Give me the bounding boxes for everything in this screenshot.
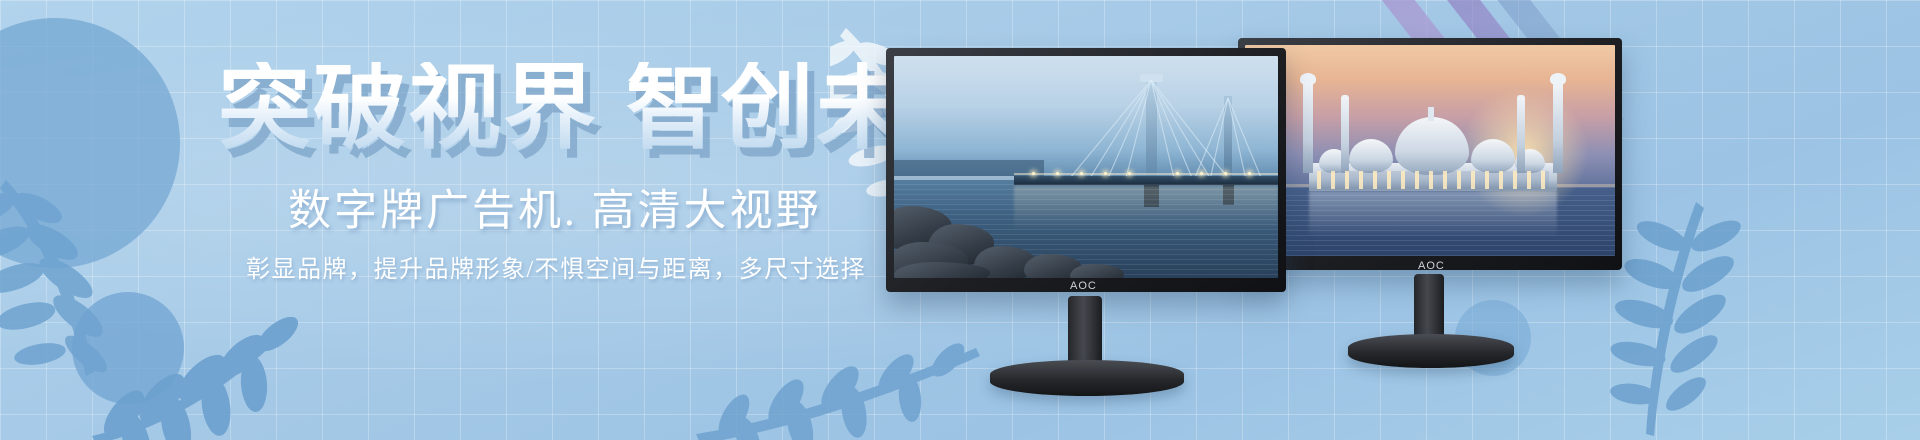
text-block: 突破视界 智创未来 数字牌广告机. 高清大视野 彰显品牌，提升品牌形象/不惧空间… [0,0,900,440]
tagline: 彰显品牌，提升品牌形象/不惧空间与距离，多尺寸选择 [246,258,866,282]
subtitle: 数字牌广告机. 高清大视野 [288,190,822,233]
brand-label-left: AOC [1070,280,1097,292]
monitor-bridge: AOC [886,48,1326,396]
promo-banner: 突破视界 智创未来 数字牌广告机. 高清大视野 彰显品牌，提升品牌形象/不惧空间… [0,0,1920,440]
brand-label-right: AOC [1418,260,1445,272]
bridge-screen-image [894,56,1278,278]
